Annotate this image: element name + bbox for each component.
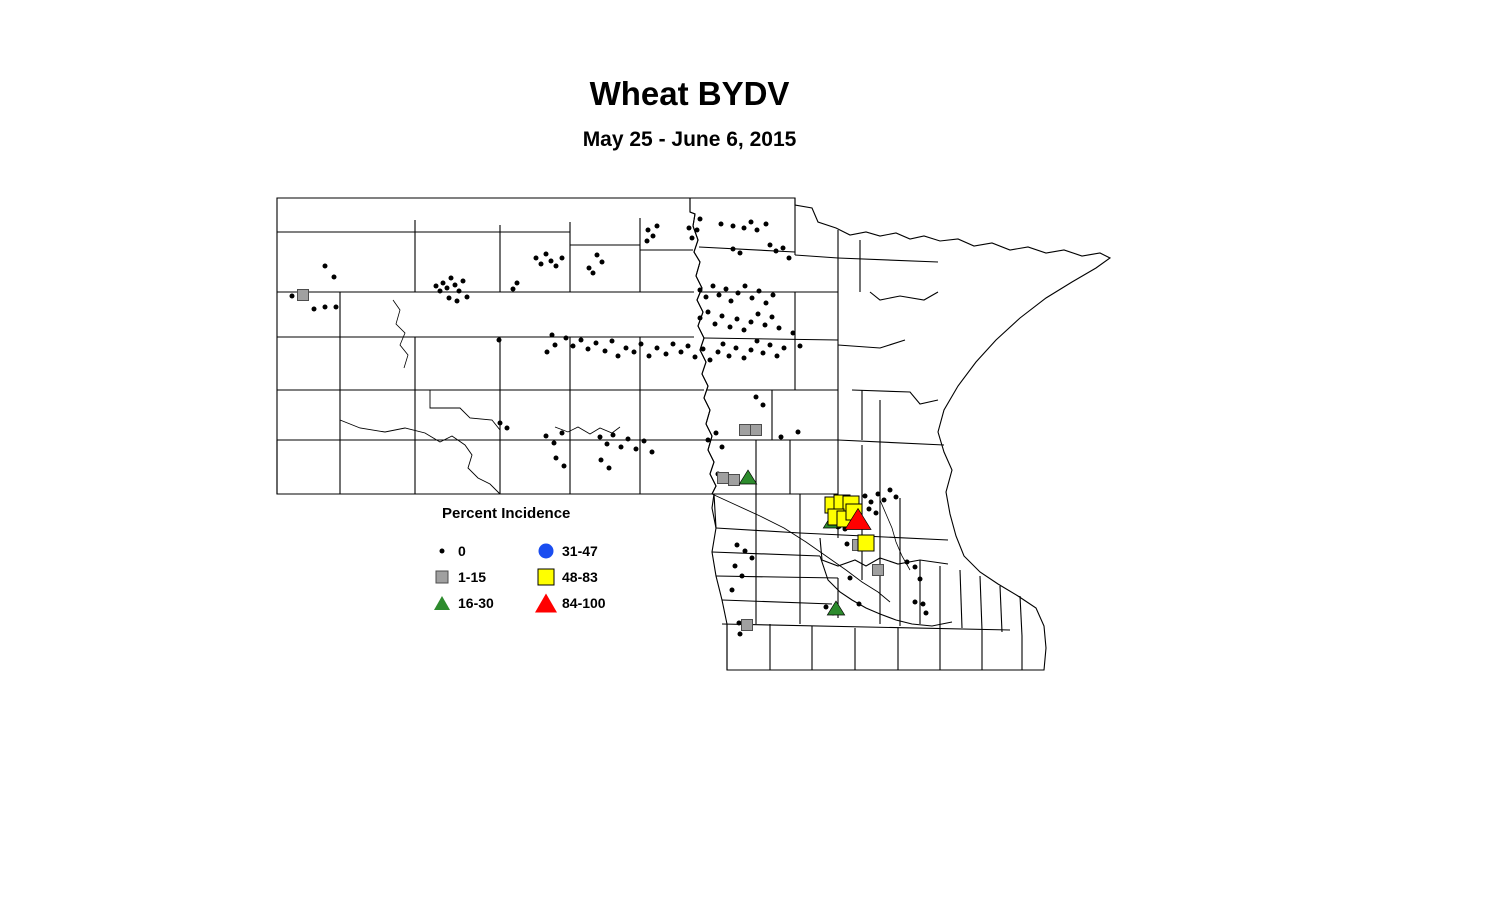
data-point-0 <box>586 347 591 352</box>
data-point-0 <box>603 349 608 354</box>
data-point-0 <box>724 287 729 292</box>
legend-item-31-47[interactable]: 31-47 <box>532 538 606 564</box>
data-point-0 <box>918 577 923 582</box>
data-point-16-30 <box>739 470 756 484</box>
data-point-0 <box>749 220 754 225</box>
data-point-0 <box>874 511 879 516</box>
data-point-0 <box>863 494 868 499</box>
legend-item-48-83[interactable]: 48-83 <box>532 564 606 590</box>
data-point-0 <box>731 224 736 229</box>
data-point-0 <box>894 495 899 500</box>
data-point-0 <box>706 310 711 315</box>
data-point-0 <box>498 421 503 426</box>
data-point-0 <box>646 228 651 233</box>
data-point-0 <box>634 447 639 452</box>
data-point-0 <box>639 342 644 347</box>
data-point-0 <box>869 500 874 505</box>
data-point-0 <box>888 488 893 493</box>
data-point-0 <box>738 251 743 256</box>
data-point-0 <box>913 565 918 570</box>
data-point-0 <box>791 331 796 336</box>
map-canvas[interactable] <box>0 0 1503 900</box>
data-point-0 <box>607 466 612 471</box>
data-point-0 <box>544 252 549 257</box>
data-point-1-15 <box>742 620 753 631</box>
data-point-0 <box>626 437 631 442</box>
map-page: Wheat BYDV May 25 - June 6, 2015 <box>0 0 1503 900</box>
data-point-0 <box>770 315 775 320</box>
data-point-48-83 <box>858 535 874 551</box>
data-point-0 <box>461 279 466 284</box>
data-point-0 <box>771 293 776 298</box>
data-point-0 <box>664 352 669 357</box>
data-point-0 <box>782 346 787 351</box>
data-point-1-15 <box>729 475 740 486</box>
data-point-0 <box>755 228 760 233</box>
data-point-0 <box>595 253 600 258</box>
data-point-1-15 <box>751 425 762 436</box>
legend: Percent Incidence 0 1-15 16-30 <box>428 505 648 615</box>
data-point-0 <box>449 276 454 281</box>
data-point-0 <box>750 296 755 301</box>
data-point-0 <box>743 284 748 289</box>
data-point-0 <box>560 431 565 436</box>
data-point-0 <box>763 323 768 328</box>
data-point-0 <box>686 344 691 349</box>
data-point-0 <box>882 498 887 503</box>
data-point-0 <box>457 289 462 294</box>
data-point-0 <box>465 295 470 300</box>
data-point-0 <box>594 341 599 346</box>
data-point-0 <box>290 294 295 299</box>
data-point-0 <box>624 346 629 351</box>
data-point-0 <box>798 344 803 349</box>
data-point-0 <box>867 507 872 512</box>
data-point-0 <box>332 275 337 280</box>
legend-label-1-15: 1-15 <box>458 569 486 585</box>
data-point-0 <box>740 574 745 579</box>
data-point-0 <box>562 464 567 469</box>
legend-gray-square-icon <box>428 566 456 588</box>
legend-blue-circle-icon <box>532 540 560 562</box>
data-point-0 <box>768 243 773 248</box>
legend-label-0: 0 <box>458 543 466 559</box>
data-point-0 <box>645 239 650 244</box>
data-point-0 <box>445 286 450 291</box>
data-point-0 <box>534 256 539 261</box>
legend-green-triangle-icon <box>428 592 456 614</box>
data-point-0 <box>447 296 452 301</box>
data-point-0 <box>774 249 779 254</box>
data-point-0 <box>779 435 784 440</box>
data-point-0 <box>539 262 544 267</box>
legend-label-84-100: 84-100 <box>562 595 606 611</box>
data-point-0 <box>698 217 703 222</box>
data-point-0 <box>716 350 721 355</box>
data-point-0 <box>755 339 760 344</box>
data-point-0 <box>742 328 747 333</box>
data-point-0 <box>441 281 446 286</box>
data-point-0 <box>587 266 592 271</box>
data-point-0 <box>619 445 624 450</box>
data-point-0 <box>717 293 722 298</box>
data-point-0 <box>334 305 339 310</box>
legend-item-1-15[interactable]: 1-15 <box>428 564 494 590</box>
data-point-0 <box>706 438 711 443</box>
data-point-0 <box>651 234 656 239</box>
data-point-0 <box>796 430 801 435</box>
data-point-0 <box>698 288 703 293</box>
data-point-0 <box>757 289 762 294</box>
data-point-0 <box>729 299 734 304</box>
data-point-1-15 <box>718 473 729 484</box>
data-point-0 <box>713 322 718 327</box>
data-point-1-15 <box>873 565 884 576</box>
data-point-0 <box>434 284 439 289</box>
data-point-0 <box>515 281 520 286</box>
data-point-0 <box>921 602 926 607</box>
data-point-0 <box>742 226 747 231</box>
data-point-0 <box>735 543 740 548</box>
data-point-0 <box>711 284 716 289</box>
data-point-0 <box>905 560 910 565</box>
data-point-0 <box>312 307 317 312</box>
data-point-0 <box>647 354 652 359</box>
data-point-0 <box>571 344 576 349</box>
legend-item-16-30[interactable]: 16-30 <box>428 590 494 616</box>
legend-yellow-square-icon <box>532 566 560 588</box>
data-point-1-15 <box>740 425 751 436</box>
data-point-0 <box>727 354 732 359</box>
data-point-0 <box>616 354 621 359</box>
data-point-0 <box>579 338 584 343</box>
legend-label-31-47: 31-47 <box>562 543 598 559</box>
data-point-0 <box>671 342 676 347</box>
data-point-0 <box>876 492 881 497</box>
data-point-0 <box>610 339 615 344</box>
data-point-0 <box>720 314 725 319</box>
data-point-0 <box>650 450 655 455</box>
data-point-0 <box>787 256 792 261</box>
legend-column-right: 31-47 48-83 84-100 <box>532 538 606 616</box>
legend-red-triangle-icon <box>532 592 560 614</box>
data-point-0 <box>750 556 755 561</box>
data-point-0 <box>714 431 719 436</box>
data-point-0 <box>845 542 850 547</box>
data-point-0 <box>730 588 735 593</box>
data-point-0 <box>553 343 558 348</box>
legend-label-48-83: 48-83 <box>562 569 598 585</box>
data-point-0 <box>611 433 616 438</box>
data-point-0 <box>693 355 698 360</box>
legend-column-left: 0 1-15 16-30 <box>428 538 494 616</box>
data-point-0 <box>756 312 761 317</box>
data-point-0 <box>690 236 695 241</box>
data-point-0 <box>550 333 555 338</box>
data-point-0 <box>742 356 747 361</box>
data-point-0 <box>497 338 502 343</box>
data-point-0 <box>781 246 786 251</box>
data-point-0 <box>824 605 829 610</box>
data-point-0 <box>733 564 738 569</box>
data-point-0 <box>735 317 740 322</box>
data-point-0 <box>731 247 736 252</box>
data-point-0 <box>323 305 328 310</box>
data-point-0 <box>438 289 443 294</box>
data-point-0 <box>544 434 549 439</box>
data-point-0 <box>545 350 550 355</box>
data-point-0 <box>564 336 569 341</box>
legend-item-0[interactable]: 0 <box>428 538 494 564</box>
data-point-0 <box>913 600 918 605</box>
data-point-0 <box>764 222 769 227</box>
data-point-0 <box>764 301 769 306</box>
data-point-0 <box>924 611 929 616</box>
data-point-0 <box>708 358 713 363</box>
data-point-16-30 <box>827 601 844 615</box>
data-point-0 <box>455 299 460 304</box>
data-point-0 <box>761 403 766 408</box>
data-point-0 <box>552 441 557 446</box>
data-point-0 <box>848 576 853 581</box>
data-point-0 <box>775 354 780 359</box>
data-point-0 <box>768 343 773 348</box>
data-point-0 <box>549 259 554 264</box>
data-point-0 <box>737 621 742 626</box>
data-point-0 <box>749 320 754 325</box>
data-point-0 <box>605 442 610 447</box>
data-point-0 <box>777 326 782 331</box>
legend-label-16-30: 16-30 <box>458 595 494 611</box>
data-point-0 <box>704 295 709 300</box>
data-point-0 <box>754 395 759 400</box>
data-point-0 <box>687 226 692 231</box>
data-point-0 <box>720 445 725 450</box>
data-point-0 <box>591 271 596 276</box>
data-point-0 <box>554 456 559 461</box>
legend-title: Percent Incidence <box>442 505 570 522</box>
data-point-0 <box>632 350 637 355</box>
data-point-1-15 <box>298 290 309 301</box>
data-point-0 <box>655 346 660 351</box>
data-point-0 <box>728 325 733 330</box>
data-point-0 <box>599 458 604 463</box>
data-point-0 <box>598 435 603 440</box>
data-point-0 <box>600 260 605 265</box>
data-point-0 <box>511 287 516 292</box>
data-point-0 <box>738 632 743 637</box>
data-point-0 <box>323 264 328 269</box>
data-point-0 <box>749 348 754 353</box>
legend-dot-icon <box>428 540 456 562</box>
state-north-dakota <box>277 198 716 494</box>
data-point-0 <box>698 316 703 321</box>
data-point-0 <box>719 222 724 227</box>
data-point-0 <box>721 342 726 347</box>
map-svg <box>0 0 1503 900</box>
data-point-0 <box>679 350 684 355</box>
data-point-0 <box>734 346 739 351</box>
data-point-0 <box>736 291 741 296</box>
data-point-0 <box>743 549 748 554</box>
data-point-0 <box>554 264 559 269</box>
data-point-0 <box>560 256 565 261</box>
data-point-0 <box>761 351 766 356</box>
data-point-0 <box>695 228 700 233</box>
data-point-0 <box>701 347 706 352</box>
data-point-0 <box>857 602 862 607</box>
data-point-0 <box>453 283 458 288</box>
data-point-0 <box>505 426 510 431</box>
legend-item-84-100[interactable]: 84-100 <box>532 590 606 616</box>
data-point-0 <box>642 439 647 444</box>
data-point-0 <box>655 224 660 229</box>
